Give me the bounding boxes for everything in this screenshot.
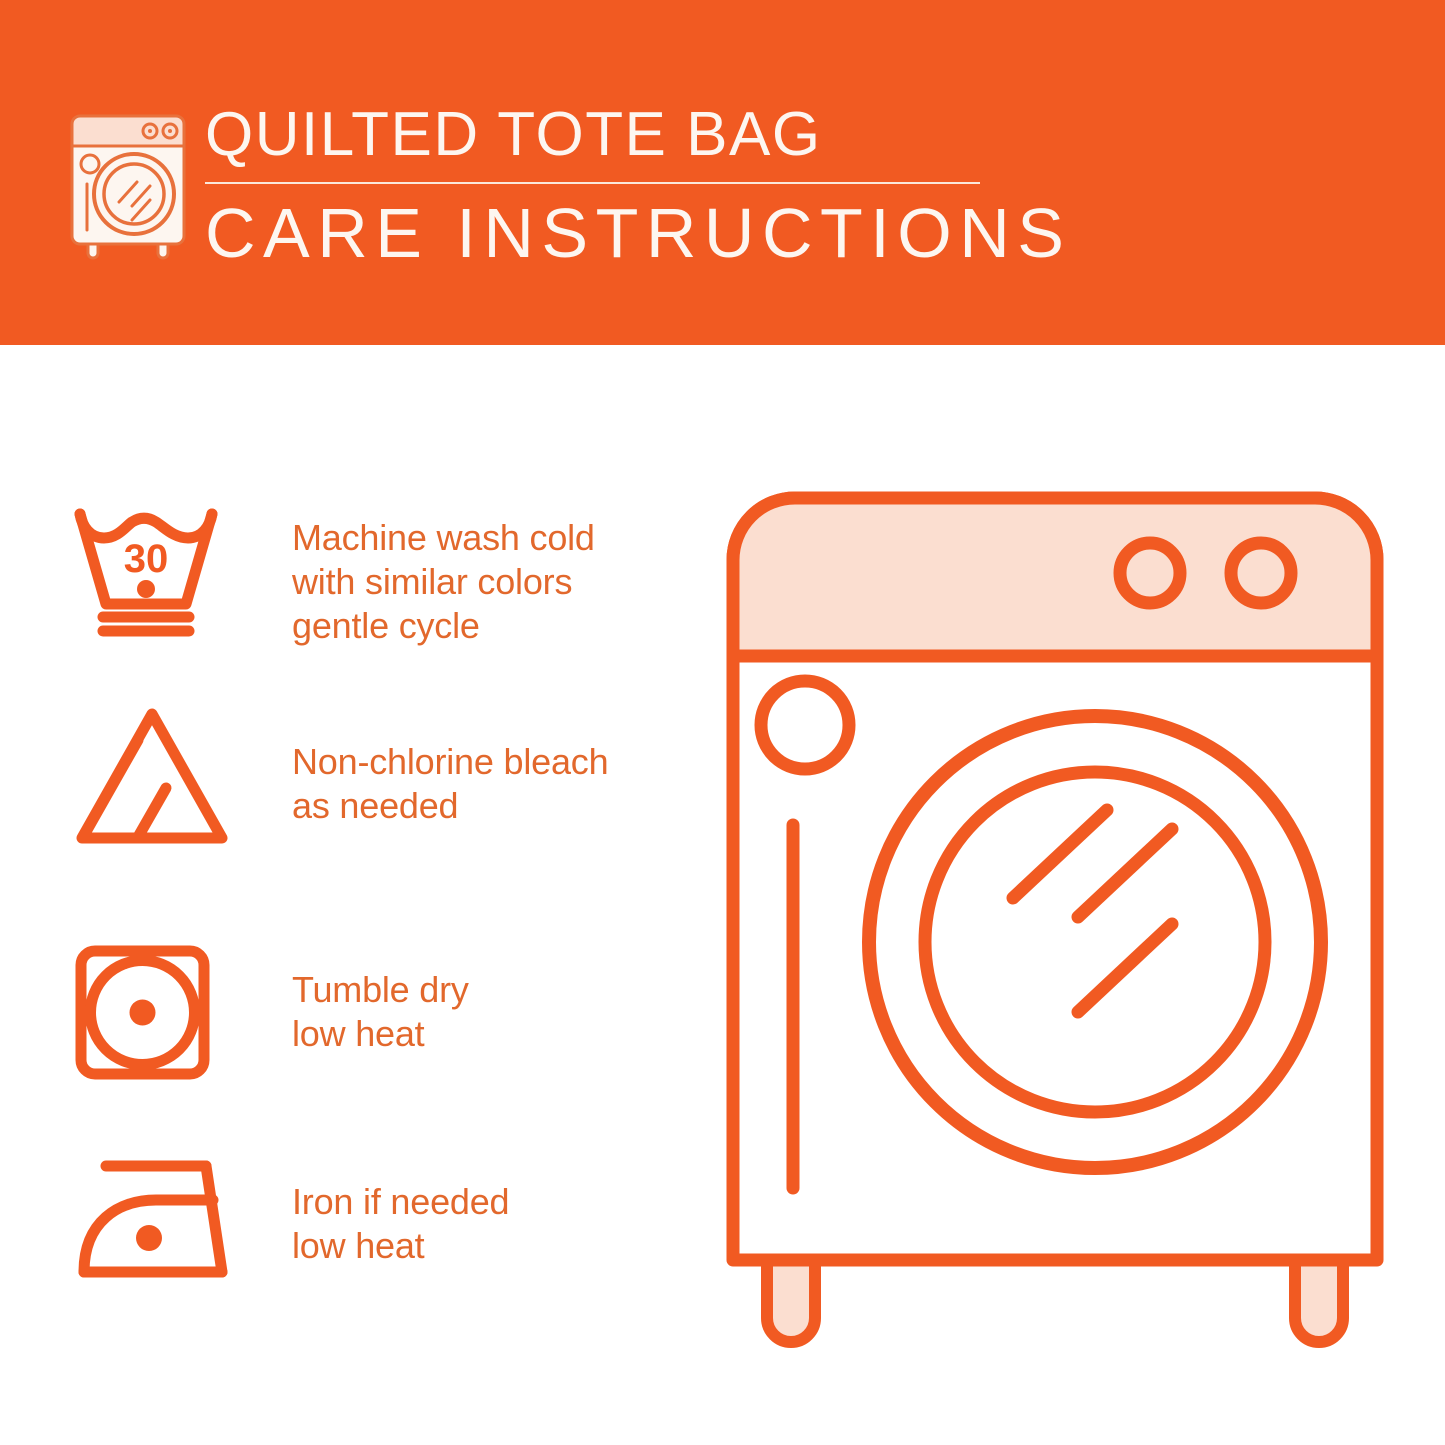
care-label-iron: Iron if needed low heat bbox=[292, 1180, 509, 1268]
care-instructions-page: QUILTED TOTE BAG CARE INSTRUCTIONS bbox=[0, 0, 1445, 1445]
washer-control-panel bbox=[733, 498, 1377, 656]
wash-tub-30-icon: 30 bbox=[70, 500, 240, 645]
iron-low-heat-icon bbox=[70, 1150, 240, 1300]
care-label-tumble-dry: Tumble dry low heat bbox=[292, 968, 469, 1056]
svg-text:30: 30 bbox=[124, 537, 169, 581]
care-label-machine-wash: Machine wash cold with similar colors ge… bbox=[292, 516, 595, 648]
non-chlorine-bleach-triangle-icon bbox=[70, 700, 235, 855]
care-instruction-list: 30 Machine wash cold with similar colors… bbox=[0, 0, 700, 1445]
tumble-dry-low-icon bbox=[70, 940, 215, 1090]
care-label-bleach: Non-chlorine bleach as needed bbox=[292, 740, 608, 828]
front-load-washing-machine-illustration bbox=[715, 480, 1395, 1380]
